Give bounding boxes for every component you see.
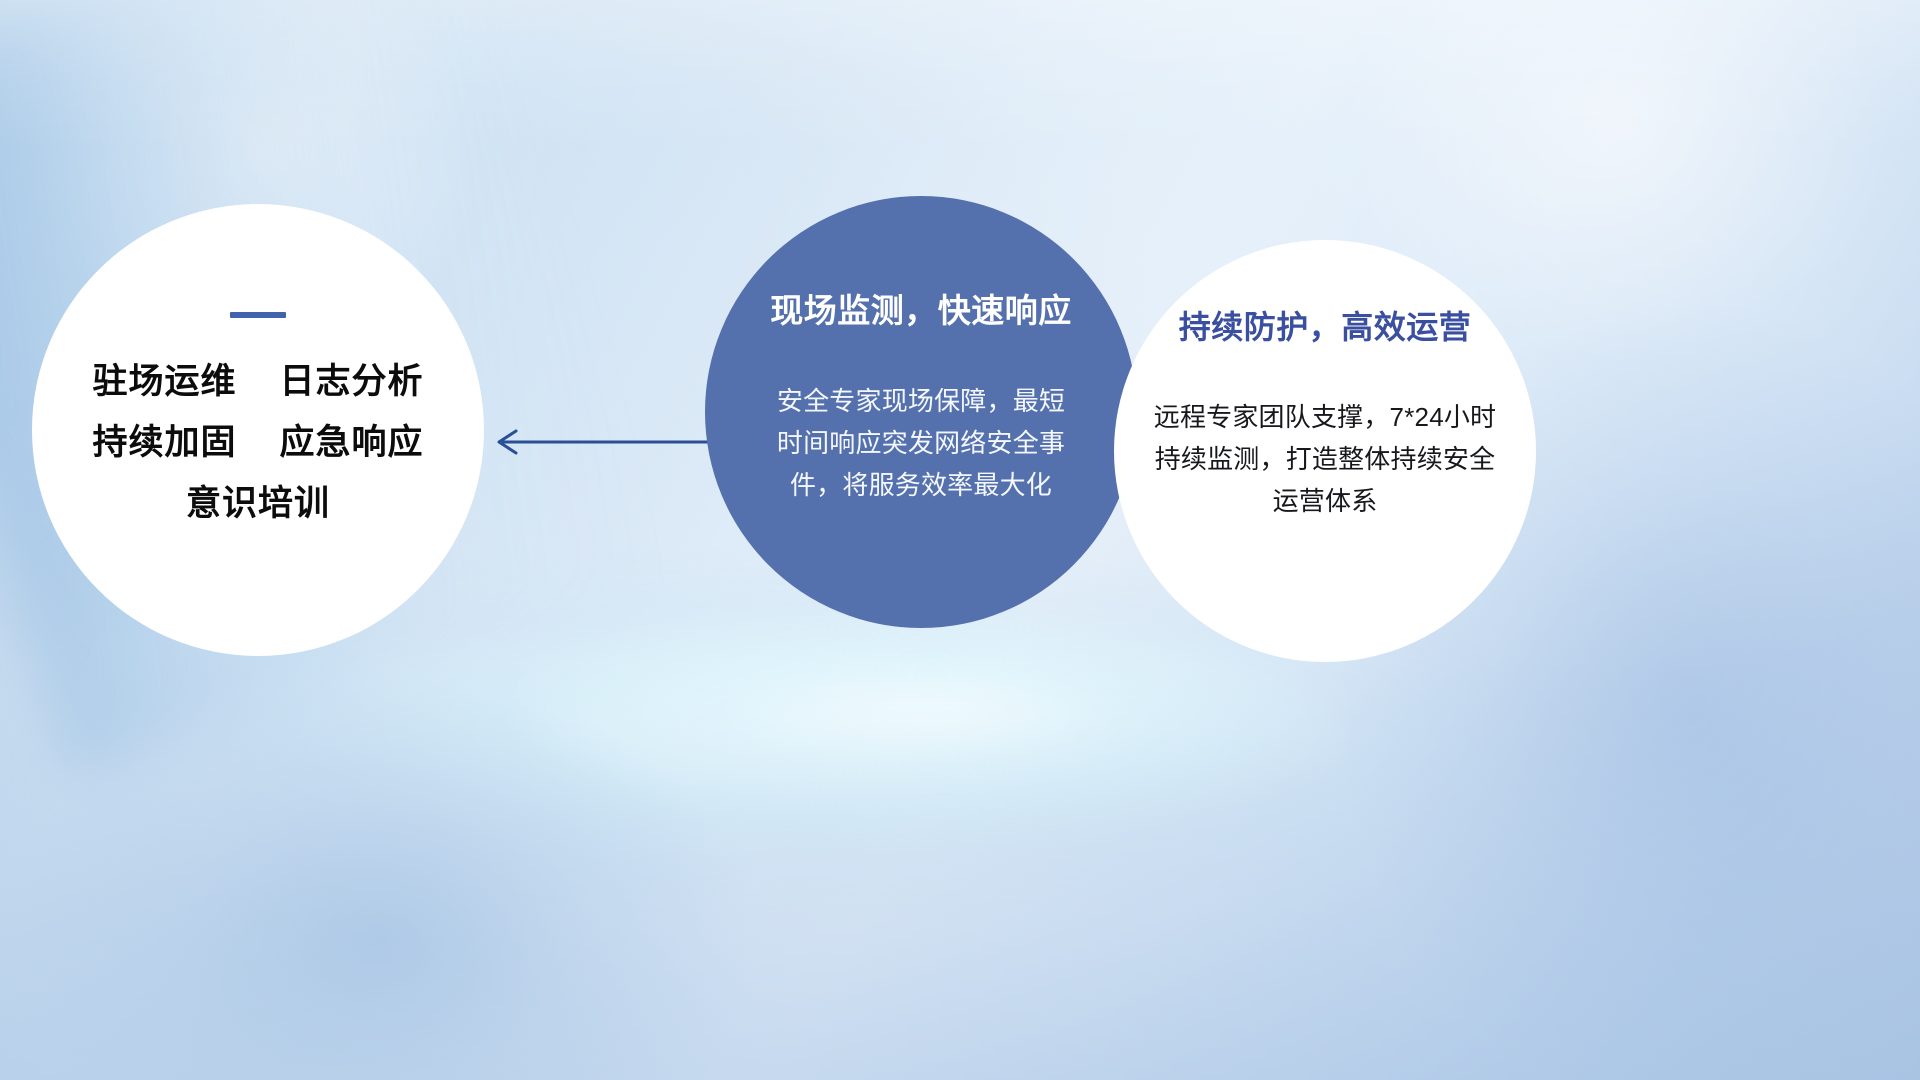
- list-item: 持续加固 应急响应: [93, 425, 424, 462]
- background-bottom-left-shade: [0, 680, 760, 1080]
- right-protection-circle[interactable]: 持续防护，高效运营 远程专家团队支撑，7*24小时持续监测，打造整体持续安全运营…: [1114, 240, 1536, 662]
- leftward-flow-arrow: [486, 418, 716, 466]
- dash-accent-icon: [230, 312, 286, 318]
- mid-circle-title: 现场监测，快速响应: [770, 284, 1072, 332]
- right-circle-body: 远程专家团队支撑，7*24小时持续监测，打造整体持续安全运营体系: [1150, 396, 1500, 522]
- mid-monitoring-circle[interactable]: 现场监测，快速响应 安全专家现场保障，最短时间响应突发网络安全事件，将服务效率最…: [705, 196, 1137, 628]
- left-services-list: 驻场运维 日志分析 持续加固 应急响应 意识培训: [93, 364, 424, 522]
- background-top-highlight: [0, 0, 1920, 150]
- slide-canvas: 驻场运维 日志分析 持续加固 应急响应 意识培训 现场监测，快速响应 安全专家现…: [0, 0, 1920, 1080]
- right-circle-title: 持续防护，高效运营: [1179, 302, 1472, 348]
- left-services-circle[interactable]: 驻场运维 日志分析 持续加固 应急响应 意识培训: [32, 204, 484, 656]
- mid-circle-body: 安全专家现场保障，最短时间响应突发网络安全事件，将服务效率最大化: [771, 380, 1071, 506]
- list-item: 意识培训: [186, 486, 330, 523]
- list-item: 驻场运维 日志分析: [93, 364, 424, 401]
